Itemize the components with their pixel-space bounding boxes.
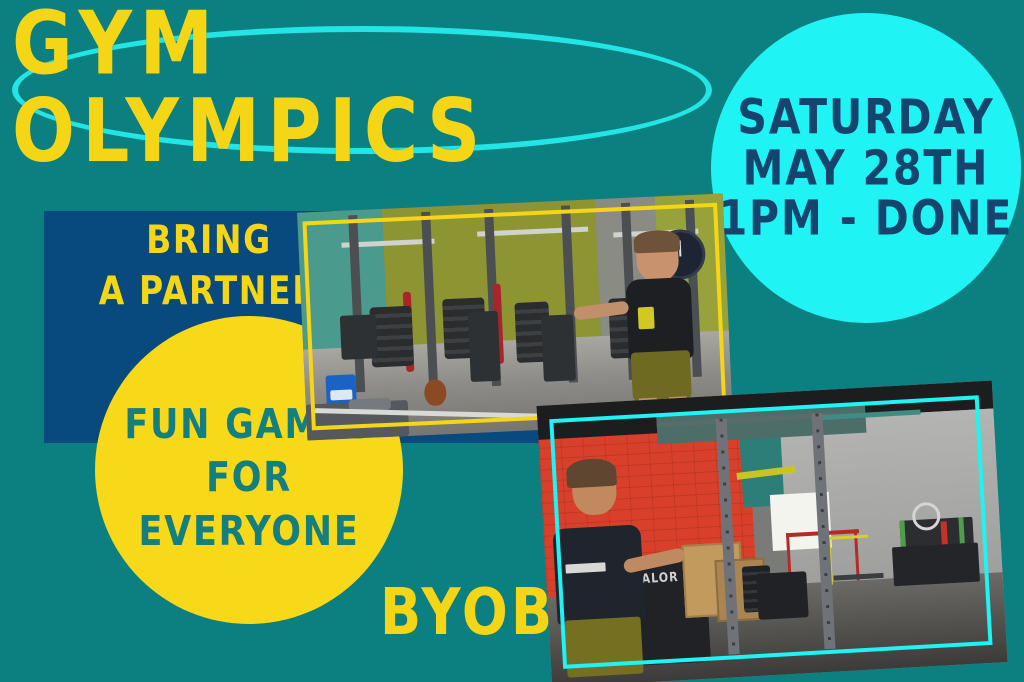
athlete-shirt bbox=[626, 277, 694, 360]
flyer-poster: GYM OLYMPICS SATURDAY MAY 28TH 1PM - DON… bbox=[0, 0, 1024, 682]
shirt-label bbox=[565, 563, 605, 574]
shirt-logo bbox=[637, 306, 654, 329]
punching-bag bbox=[468, 311, 501, 382]
athlete-figure bbox=[544, 461, 675, 682]
plyo-box bbox=[756, 572, 809, 620]
punching-bag bbox=[340, 314, 378, 360]
athlete-shirt bbox=[553, 524, 646, 626]
equipment-stack bbox=[891, 542, 980, 586]
date-line-date: MAY 28TH bbox=[743, 139, 990, 196]
red-equipment bbox=[940, 521, 947, 544]
fun-line-3: EVERYONE bbox=[139, 501, 360, 564]
athlete-hair bbox=[633, 230, 680, 254]
date-badge: SATURDAY MAY 28TH 1PM - DONE bbox=[711, 13, 1021, 323]
date-line-time: 1PM - DONE bbox=[719, 190, 1014, 247]
date-line-day: SATURDAY bbox=[737, 89, 994, 146]
punching-bag bbox=[541, 314, 576, 381]
athlete-shorts bbox=[631, 350, 692, 402]
byob-text: BYOB bbox=[380, 581, 555, 645]
photo-2-scene: VALOR bbox=[536, 380, 1007, 682]
athlete-hair bbox=[565, 458, 616, 489]
athlete-shorts bbox=[565, 616, 644, 677]
page-title: GYM OLYMPICS bbox=[12, 14, 712, 165]
gym-photo-red-wall: VALOR bbox=[536, 380, 1007, 682]
